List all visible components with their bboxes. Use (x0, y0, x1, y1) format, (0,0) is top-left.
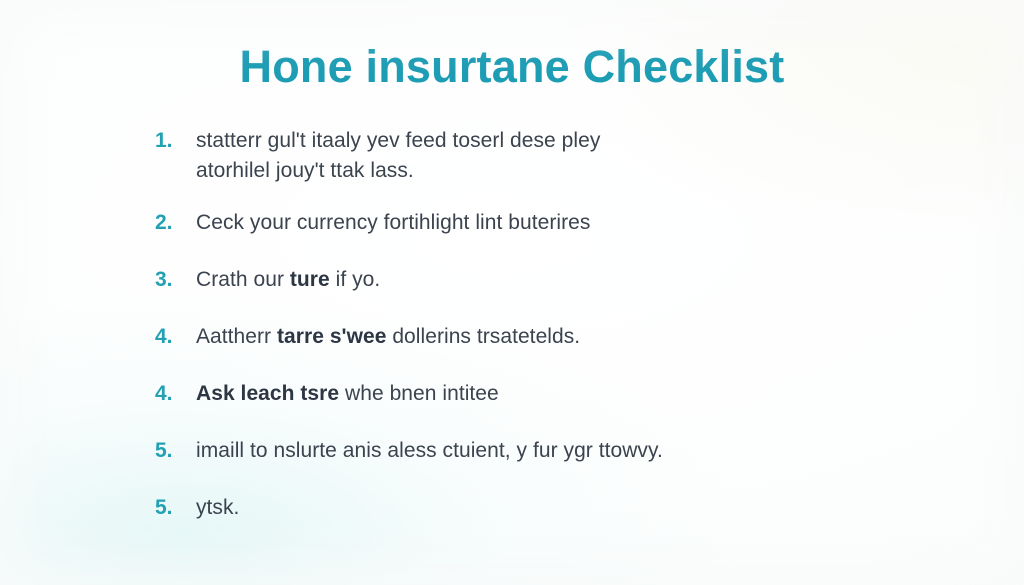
checklist-card: Hone insurtane Checklist 1. statterr gul… (0, 0, 1024, 585)
list-item-line: ytsk. (196, 493, 942, 523)
list-item-text: Ceck your currency fortihlight lint bute… (196, 208, 942, 238)
list-item: 5. imaill to nslurte anis aless ctuient,… (152, 436, 942, 466)
page-title: Hone insurtane Checklist (0, 42, 1024, 92)
text-tail: if yo. (330, 268, 381, 291)
list-item: 1. statterr gul't itaaly yev feed toserl… (152, 126, 942, 186)
list-item-text: Aattherr tarre s'wee dollerins trsatetel… (196, 322, 942, 352)
list-item: 2. Ceck your currency fortihlight lint b… (152, 208, 942, 238)
text-emphasis: ture (290, 268, 330, 291)
list-item-line: Ask leach tsre whe bnen intitee (196, 379, 942, 409)
list-item-marker: 5. (152, 436, 196, 466)
text-lead: Crath our (196, 268, 290, 291)
text-tail: whe bnen intitee (339, 382, 499, 405)
list-item-line: Crath our ture if yo. (196, 265, 942, 295)
list-item-line: statterr gul't itaaly yev feed toserl de… (196, 126, 942, 156)
list-item: 4. Ask leach tsre whe bnen intitee (152, 379, 942, 409)
list-item-text: Ask leach tsre whe bnen intitee (196, 379, 942, 409)
list-item-line: imaill to nslurte anis aless ctuient, y … (196, 436, 942, 466)
list-item: 4. Aattherr tarre s'wee dollerins trsate… (152, 322, 942, 352)
text-tail: dollerins trsatetelds. (386, 325, 580, 348)
list-item-text: ytsk. (196, 493, 942, 523)
list-item-text: imaill to nslurte anis aless ctuient, y … (196, 436, 942, 466)
text-emphasis: tarre s'wee (277, 325, 386, 348)
list-item-marker: 2. (152, 208, 196, 238)
list-item-marker: 4. (152, 379, 196, 409)
checklist-list: 1. statterr gul't itaaly yev feed toserl… (152, 126, 942, 523)
list-item-marker: 3. (152, 265, 196, 295)
list-item-line: Ceck your currency fortihlight lint bute… (196, 208, 942, 238)
list-item: 3. Crath our ture if yo. (152, 265, 942, 295)
text-emphasis: Ask leach tsre (196, 382, 339, 405)
list-item-text: statterr gul't itaaly yev feed toserl de… (196, 126, 942, 186)
list-item-text: Crath our ture if yo. (196, 265, 942, 295)
list-item: 5. ytsk. (152, 493, 942, 523)
text-lead: Aattherr (196, 325, 277, 348)
list-item-marker: 1. (152, 126, 196, 156)
list-item-marker: 5. (152, 493, 196, 523)
list-item-marker: 4. (152, 322, 196, 352)
list-item-line: Aattherr tarre s'wee dollerins trsatetel… (196, 322, 942, 352)
list-item-line: atorhilel jouy't ttak lass. (196, 156, 942, 186)
